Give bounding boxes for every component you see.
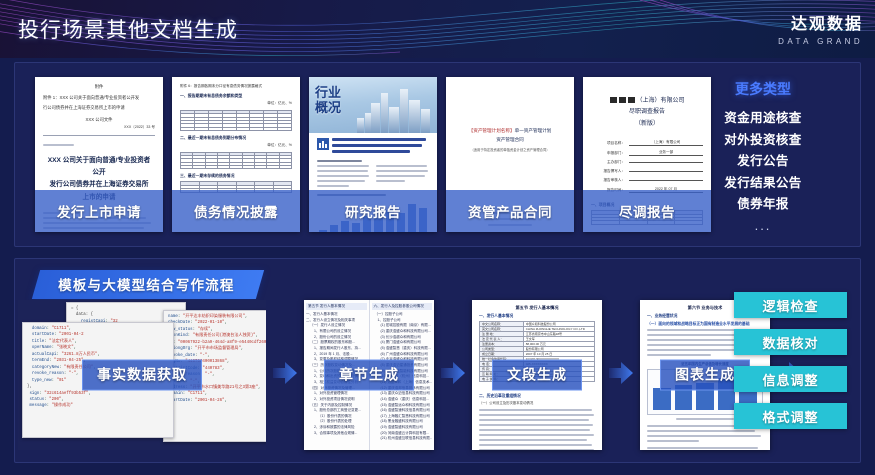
page-header: 投行场景其他文档生成 达观数据 DATA GRAND bbox=[0, 0, 875, 58]
logo-text-cn: 达观数据 bbox=[778, 10, 863, 34]
doc3-cover-line1: 行业 bbox=[315, 85, 341, 100]
para-doc-sub: 二、历史沿革及重组情况 bbox=[479, 394, 595, 399]
flow-step-1-label: 事实数据获取 bbox=[82, 360, 202, 391]
bar-chart-icon bbox=[317, 138, 329, 150]
logo-text-en: DATA GRAND bbox=[778, 37, 863, 46]
doc4-title-red: 【资产管理计划名称】 bbox=[469, 128, 515, 133]
doc2-table-2 bbox=[180, 152, 292, 170]
flow-step-1-screenshot: = { data: { registCapi: "32 name: "开平达丰纺… bbox=[18, 300, 266, 450]
flow-arrow-3-icon bbox=[608, 360, 634, 386]
doc5-field-label: 申报部门： bbox=[591, 151, 625, 156]
more-type-item-funds-usage[interactable]: 资金用途核查 bbox=[688, 108, 838, 130]
doc2-table-1 bbox=[180, 110, 292, 131]
para-doc-sub2: （一）公司设立及历次股本变动情况 bbox=[479, 401, 595, 407]
more-type-item-outbound-investment[interactable]: 对外投资核查 bbox=[688, 130, 838, 152]
flow-step-2-screenshot: 第五节 发行人基本情况 一、发行人基本情况 二、发行人设立情况及相关事项 （一）… bbox=[304, 300, 434, 450]
format-adjustment-button[interactable]: 格式调整 bbox=[734, 403, 847, 429]
doc5-field-label: 主办部门： bbox=[591, 160, 625, 165]
doc5-title-line2: 尽职调查报告 bbox=[629, 109, 665, 115]
doc4-title-rest: 单一资产管理计划 bbox=[515, 128, 552, 133]
outline-item: 1、报告期间发行人股东、持... bbox=[306, 346, 367, 352]
flow-banner: 模板与大模型结合写作流程 bbox=[32, 270, 265, 299]
doc-card-label: 研究报告 bbox=[309, 190, 437, 232]
flow-step-2-label: 章节生成 bbox=[324, 360, 414, 391]
doc5-field-label: 报告撰写人： bbox=[591, 169, 625, 174]
outline-item: (14) 浩盛众（重庆）信息科技... bbox=[372, 397, 433, 403]
doc4-title-line2: 资产管理合同 bbox=[454, 135, 566, 144]
logic-check-button[interactable]: 逻辑检查 bbox=[734, 292, 847, 318]
information-adjustment-button[interactable]: 信息调整 bbox=[734, 366, 847, 392]
flow-step-chapter-generation[interactable]: 第五节 发行人基本情况 一、发行人基本情况 二、发行人设立情况及相关事项 （一）… bbox=[304, 300, 434, 450]
more-types-title: 更多类型 bbox=[688, 79, 838, 99]
doc3-cover-line2: 概况 bbox=[315, 100, 341, 115]
doc1-divider bbox=[43, 135, 155, 136]
flow-steps: = { data: { registCapi: "32 name: "开平达丰纺… bbox=[18, 300, 748, 450]
doc3-cover-image: 行业 概况 bbox=[309, 77, 437, 133]
outline-item: 3、合规事项及其他合规情... bbox=[306, 431, 367, 437]
doc1-title-line2: 公开 bbox=[43, 167, 155, 179]
doc2-unit2: 单位：亿元、% bbox=[180, 143, 292, 148]
para-doc-header: 第五节 发行人基本情况 bbox=[479, 305, 595, 311]
outline-right-header: 六、发行人及控股参股公司情况 bbox=[372, 303, 433, 310]
data-verification-button[interactable]: 数据核对 bbox=[734, 329, 847, 355]
doc1-head-line3: 行公司债券并在上海证券交易所上市的申请 bbox=[43, 105, 155, 112]
more-types-list: 更多类型 资金用途核查 对外投资核查 发行公告 发行结果公告 债券年报 ... bbox=[688, 79, 838, 233]
flow-banner-label: 模板与大模型结合写作流程 bbox=[58, 274, 234, 294]
flow-step-paragraph-generation[interactable]: 第五节 发行人基本情况 一、发行人基本情况 中文公司名称：中国众和科技股份公司 … bbox=[472, 300, 602, 450]
doc5-title-line1: （上海）有限公司 bbox=[636, 98, 684, 104]
brand-logo: 达观数据 DATA GRAND bbox=[778, 10, 863, 46]
doc5-field-list: 项目名称：（上海）有限公司 申报部门：业务一部 主办部门： 报告撰写人： 报告审… bbox=[591, 140, 703, 193]
doc2-head: 附件 6：报告期各期末分口径有息债务情况披露格式 bbox=[180, 84, 292, 89]
outline-item: (16) 浩盛智速科技信息有限公司 bbox=[372, 408, 433, 414]
outline-left-header: 第五节 发行人基本情况 bbox=[306, 303, 367, 310]
para-row-value: CHINA ZHONGHE TECHNOLOGY CO.,LTD bbox=[523, 327, 594, 332]
doc-card-asset-management-contract[interactable]: 【资产管理计划名称】单一资产管理计划 资产管理合同 （适用于特定投资者的单独资金… bbox=[446, 77, 574, 232]
flow-arrow-2-icon bbox=[440, 360, 466, 386]
doc-card-label: 发行上市申请 bbox=[35, 190, 163, 232]
doc4-title-line1: 【资产管理计划名称】单一资产管理计划 bbox=[454, 126, 566, 135]
doc5-title: （上海）有限公司 尽职调查报告 （新版） bbox=[591, 96, 703, 130]
more-type-item-issuance-announcement[interactable]: 发行公告 bbox=[688, 151, 838, 173]
flow-arrow-1-icon bbox=[272, 360, 298, 386]
doc-card-listing-application[interactable]: 附件 附件 1：XXX 公司关于面向普通/专业投资者公开发 行公司债券并在上海证… bbox=[35, 77, 163, 232]
para-doc-section: 一、发行人基本情况 bbox=[479, 314, 595, 319]
doc-card-research-report[interactable]: 行业 概况 bbox=[309, 77, 437, 232]
more-type-item-bond-annual-report[interactable]: 债券年报 bbox=[688, 194, 838, 216]
doc5-field-label: 报告审核人： bbox=[591, 178, 625, 183]
outline-item: (21) 杭州浩盛互联信息科技有限... bbox=[372, 436, 433, 442]
more-type-item-issuance-result-announcement[interactable]: 发行结果公告 bbox=[688, 173, 838, 195]
doc3-highlight-row bbox=[317, 138, 429, 156]
doc1-head-line1: 附件 bbox=[43, 84, 155, 91]
doc5-title-line3: （新版） bbox=[635, 121, 659, 127]
more-types-ellipsis: ... bbox=[688, 218, 838, 233]
doc1-title-line1: XXX 公司关于面向普通/专业投资者 bbox=[43, 155, 155, 167]
outline-item: 1、股份总部的工商登记变更... bbox=[306, 408, 367, 414]
doc2-section2: 二、最近一期末有息债务到期分布情况 bbox=[180, 135, 292, 141]
outline-item: (13) 重庆众迈信息科技有限公司 bbox=[372, 391, 433, 397]
doc5-field-label: 项目名称： bbox=[591, 141, 625, 146]
doc2-section3: 三、最近一期末存续的债务情况 bbox=[180, 173, 292, 179]
doc-card-label: 债务情况披露 bbox=[172, 190, 300, 232]
outline-item: (2) 重庆浩盛众和科技有限公司... bbox=[372, 329, 433, 335]
doc1-document-number: XXX〔2022〕33 号 bbox=[43, 125, 155, 130]
flow-step-data-extraction[interactable]: = { data: { registCapi: "32 name: "开平达丰纺… bbox=[18, 300, 266, 450]
flow-step-3-screenshot: 第五节 发行人基本情况 一、发行人基本情况 中文公司名称：中国众和科技股份公司 … bbox=[472, 300, 602, 450]
document-card-row: 附件 附件 1：XXX 公司关于面向普通/专业投资者公开发 行公司债券并在上海证… bbox=[35, 77, 711, 232]
doc-card-label: 资管产品合同 bbox=[446, 190, 574, 232]
document-types-panel: 附件 附件 1：XXX 公司关于面向普通/专业投资者公开发 行公司债券并在上海证… bbox=[14, 62, 861, 247]
doc1-subtitle: XXX 公司文件 bbox=[43, 117, 155, 123]
doc4-note: （适用于特定投资者的单独资金计划之资产管理合同） bbox=[454, 147, 566, 152]
check-button-group: 逻辑检查 数据核对 信息调整 格式调整 bbox=[734, 292, 847, 440]
doc-card-debt-disclosure[interactable]: 附件 6：报告期各期末分口径有息债务情况披露格式 一、报告期期末有息债务余额和类… bbox=[172, 77, 300, 232]
outline-item: (5) 浩盛智慧（重庆）科技有限... bbox=[372, 346, 433, 352]
flow-step-3-label: 文段生成 bbox=[492, 360, 582, 391]
doc2-section1: 一、报告期期末有息债务余额和类型 bbox=[180, 93, 292, 99]
doc2-unit1: 单位：亿元、% bbox=[180, 101, 292, 106]
doc1-head-line2: 附件 1：XXX 公司关于面向普通/专业投资者公开发 bbox=[43, 95, 155, 102]
page-title: 投行场景其他文档生成 bbox=[18, 14, 238, 44]
